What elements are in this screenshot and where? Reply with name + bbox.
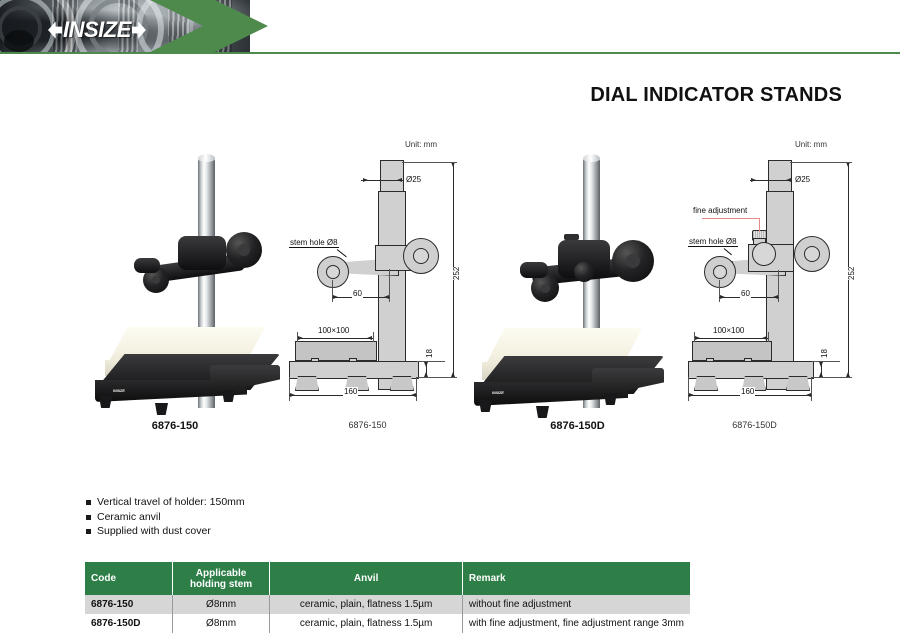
bullet-square-icon xyxy=(86,529,91,534)
product-photo-6876-150: INSIZE 6876-150 xyxy=(60,132,290,447)
cell-stem: Ø8mm xyxy=(172,614,270,633)
logo-right-arrow-icon xyxy=(132,22,146,39)
insize-logo: INSIZE xyxy=(48,16,146,44)
table-row: 6876-150 Ø8mm ceramic, plain, flatness 1… xyxy=(85,595,690,614)
dim-base-width: 160 xyxy=(740,387,755,396)
features-list: Vertical travel of holder: 150mm Ceramic… xyxy=(86,495,245,539)
cell-anvil: ceramic, plain, flatness 1.5µm xyxy=(270,595,463,614)
column-header-anvil: Anvil xyxy=(270,562,463,595)
dim-total-height: 252 xyxy=(847,267,856,280)
table-header-row: Code Applicable holding stem Anvil Remar… xyxy=(85,562,690,595)
column-header-code: Code xyxy=(85,562,172,595)
header-line-1: Applicable xyxy=(179,568,264,579)
list-item: Supplied with dust cover xyxy=(86,524,245,539)
base-insize-logo: INSIZE xyxy=(113,388,125,393)
bullet-square-icon xyxy=(86,515,91,520)
figure-caption: 6876-150D xyxy=(662,420,847,430)
dim-post-diameter: Ø25 xyxy=(794,175,811,184)
cell-code: 6876-150 xyxy=(85,595,172,614)
technical-drawing-6876-150D: Unit: mm Ø25 fine adjustment stem hole Ø… xyxy=(690,132,875,447)
logo-text: INSIZE xyxy=(63,19,131,41)
feature-text: Vertical travel of holder: 150mm xyxy=(97,495,245,510)
column-header-holding-stem: Applicable holding stem xyxy=(172,562,270,595)
feature-text: Ceramic anvil xyxy=(97,510,161,525)
logo-left-arrow-icon xyxy=(48,22,62,39)
table-row: 6876-150D Ø8mm ceramic, plain, flatness … xyxy=(85,614,690,633)
dim-arm-reach: 60 xyxy=(352,289,363,298)
figure-caption: 6876-150D xyxy=(470,420,685,432)
column-header-remark: Remark xyxy=(462,562,690,595)
dim-anvil-size: 100×100 xyxy=(712,326,745,335)
base-insize-logo: INSIZE xyxy=(492,390,504,395)
header-green-rule xyxy=(0,52,900,54)
page-title: DIAL INDICATOR STANDS xyxy=(590,84,842,107)
dim-total-height: 252 xyxy=(452,267,461,280)
product-photo-6876-150D: INSIZE 6876-150D xyxy=(470,132,685,447)
page-header: INSIZE xyxy=(0,0,900,56)
label-stem-hole: stem hole Ø8 xyxy=(688,237,738,247)
unit-label: Unit: mm xyxy=(795,140,827,149)
dim-post-diameter: Ø25 xyxy=(405,175,422,184)
label-fine-adjustment: fine adjustment xyxy=(692,206,748,215)
list-item: Ceramic anvil xyxy=(86,510,245,525)
cell-remark: without fine adjustment xyxy=(462,595,690,614)
dim-base-width: 160 xyxy=(343,387,358,396)
label-stem-hole: stem hole Ø8 xyxy=(289,238,339,248)
feature-text: Supplied with dust cover xyxy=(97,524,211,539)
cell-anvil: ceramic, plain, flatness 1.5µm xyxy=(270,614,463,633)
figures-row: INSIZE 6876-150 Unit: mm Ø25 stem hole Ø… xyxy=(0,132,900,447)
list-item: Vertical travel of holder: 150mm xyxy=(86,495,245,510)
technical-drawing-6876-150: Unit: mm Ø25 stem hole Ø8 60 100×100 xyxy=(285,132,470,447)
bullet-square-icon xyxy=(86,500,91,505)
cell-stem: Ø8mm xyxy=(172,595,270,614)
specification-table: Code Applicable holding stem Anvil Remar… xyxy=(85,562,690,633)
figure-caption: 6876-150 xyxy=(60,420,290,432)
dim-arm-reach: 60 xyxy=(740,289,751,298)
figure-caption: 6876-150 xyxy=(275,420,460,430)
dim-anvil-size: 100×100 xyxy=(317,326,350,335)
dim-base-height: 18 xyxy=(425,349,434,358)
dim-base-height: 18 xyxy=(820,349,829,358)
unit-label: Unit: mm xyxy=(405,140,437,149)
cell-remark: with fine adjustment, fine adjustment ra… xyxy=(462,614,690,633)
cell-code: 6876-150D xyxy=(85,614,172,633)
header-line-2: holding stem xyxy=(179,579,264,590)
